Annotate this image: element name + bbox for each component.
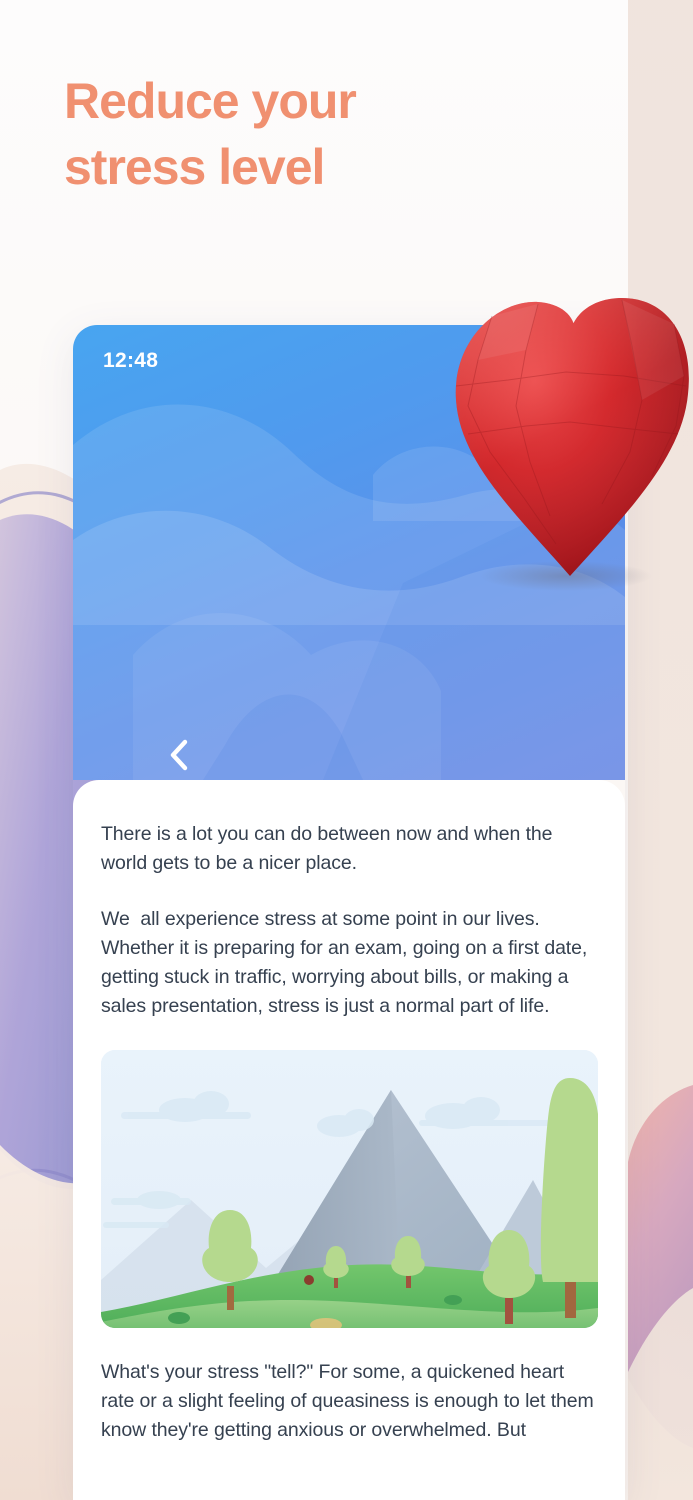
status-bar-indicators — [512, 354, 596, 369]
chevron-left-icon — [168, 739, 188, 771]
article-content-sheet: There is a lot you can do between now an… — [73, 780, 625, 1500]
signal-bars-icon — [512, 354, 534, 369]
status-bar: 12:48 — [73, 347, 625, 375]
article-paragraph: There is a lot you can do between now an… — [101, 820, 597, 879]
status-bar-time: 12:48 — [103, 349, 158, 373]
wifi-icon — [542, 354, 560, 368]
headline-line-2: stress level — [64, 134, 524, 200]
headline-line-1: Reduce your — [64, 68, 524, 134]
battery-icon — [569, 355, 595, 368]
article-paragraph: What's your stress "tell?" For some, a q… — [101, 1358, 597, 1446]
page-headline: Reduce your stress level — [64, 68, 524, 200]
back-button[interactable] — [155, 730, 201, 780]
article-paragraph: We all experience stress at some point i… — [101, 905, 597, 1022]
tree — [541, 1078, 598, 1318]
app-promo-screenshot: Reduce your stress level 12:48 — [0, 0, 693, 1500]
article-hero-header: 12:48 — [73, 325, 625, 780]
mountain-landscape-illustration — [101, 1050, 598, 1328]
cloud-decoration — [73, 325, 625, 780]
